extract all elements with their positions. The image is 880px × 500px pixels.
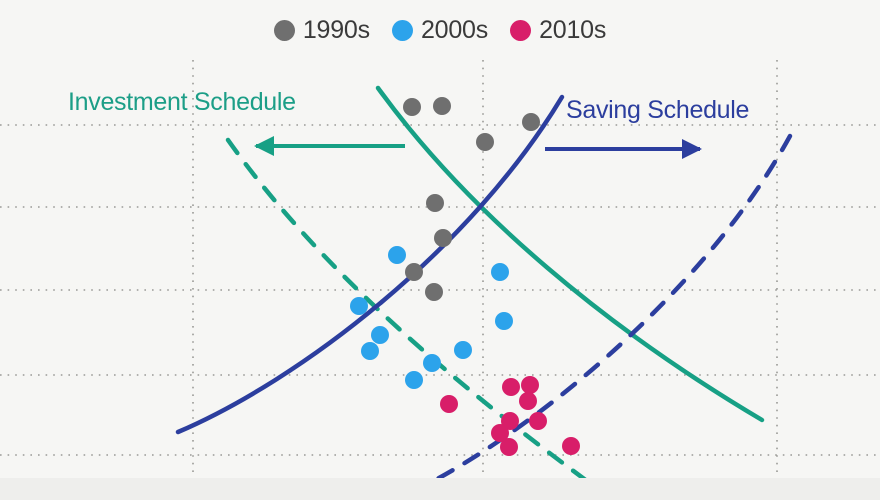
data-point-2000s: [350, 297, 368, 315]
data-point-1990s: [403, 98, 421, 116]
data-point-1990s: [434, 229, 452, 247]
data-point-2010s: [502, 378, 520, 396]
data-point-2010s: [440, 395, 458, 413]
gridlines: [0, 60, 880, 500]
data-point-2000s: [454, 341, 472, 359]
data-point-2000s: [361, 342, 379, 360]
data-point-1990s: [522, 113, 540, 131]
data-point-2000s: [405, 371, 423, 389]
data-point-1990s: [405, 263, 423, 281]
investment-schedule-label: Investment Schedule: [68, 90, 296, 115]
data-point-1990s: [433, 97, 451, 115]
data-point-1990s: [476, 133, 494, 151]
data-point-2010s: [521, 376, 539, 394]
chart-svg: [0, 0, 880, 500]
data-point-2010s: [519, 392, 537, 410]
data-point-2000s: [388, 246, 406, 264]
data-point-1990s: [425, 283, 443, 301]
data-point-2010s: [529, 412, 547, 430]
data-point-2000s: [495, 312, 513, 330]
data-point-2010s: [500, 438, 518, 456]
chart-canvas: 1990s2000s2010s Investment Schedule Savi…: [0, 0, 880, 500]
bottom-band: [0, 478, 880, 500]
investment-schedule-dashed: [228, 140, 602, 492]
data-point-1990s: [426, 194, 444, 212]
data-point-2010s: [562, 437, 580, 455]
saving-schedule-label: Saving Schedule: [566, 98, 749, 123]
data-point-2000s: [423, 354, 441, 372]
data-point-2000s: [371, 326, 389, 344]
data-point-2000s: [491, 263, 509, 281]
